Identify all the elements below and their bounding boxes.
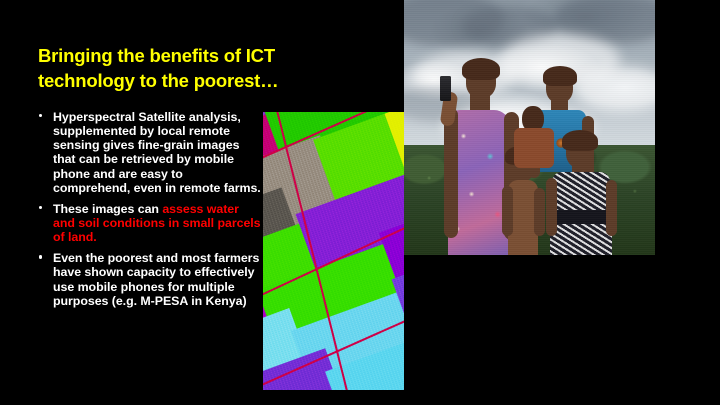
bullet-text-1: Hyperspectral Satellite analysis, supple… — [53, 110, 261, 195]
photo-woman-with-phone-and-children — [404, 0, 655, 255]
background-child-torso — [514, 128, 554, 168]
bullet-item-3: Even the poorest and most farmers have s… — [33, 251, 261, 308]
bullet-text-2-plain: These images can — [53, 202, 162, 216]
woman-left-arm — [444, 108, 458, 238]
bullet-dot-icon — [39, 255, 42, 258]
mobile-phone-icon — [440, 76, 451, 101]
presentation-slide: Bringing the benefits of ICT technology … — [0, 0, 720, 405]
bullet-text-3: Even the poorest and most farmers have s… — [53, 251, 259, 307]
hyperspectral-satellite-image — [263, 112, 404, 390]
hyperspectral-field-mosaic — [263, 112, 404, 390]
small-boy-right-arm — [534, 188, 545, 236]
girl-hair — [562, 130, 598, 151]
bullet-item-1: Hyperspectral Satellite analysis, supple… — [33, 110, 261, 195]
girl-right-arm — [606, 180, 617, 236]
bullet-dot-icon — [39, 206, 42, 209]
slide-title: Bringing the benefits of ICT technology … — [38, 44, 368, 94]
boy-hair — [543, 66, 577, 86]
bullet-list: Hyperspectral Satellite analysis, supple… — [33, 110, 261, 308]
small-boy-left-arm — [502, 186, 513, 236]
girl-left-arm — [546, 178, 557, 236]
girl-dress-skirt — [550, 224, 612, 255]
woman-hair — [462, 58, 500, 80]
girl-dress-top — [552, 172, 610, 214]
bullet-item-2: These images can assess water and soil c… — [33, 202, 261, 244]
bullet-dot-icon — [39, 114, 42, 117]
